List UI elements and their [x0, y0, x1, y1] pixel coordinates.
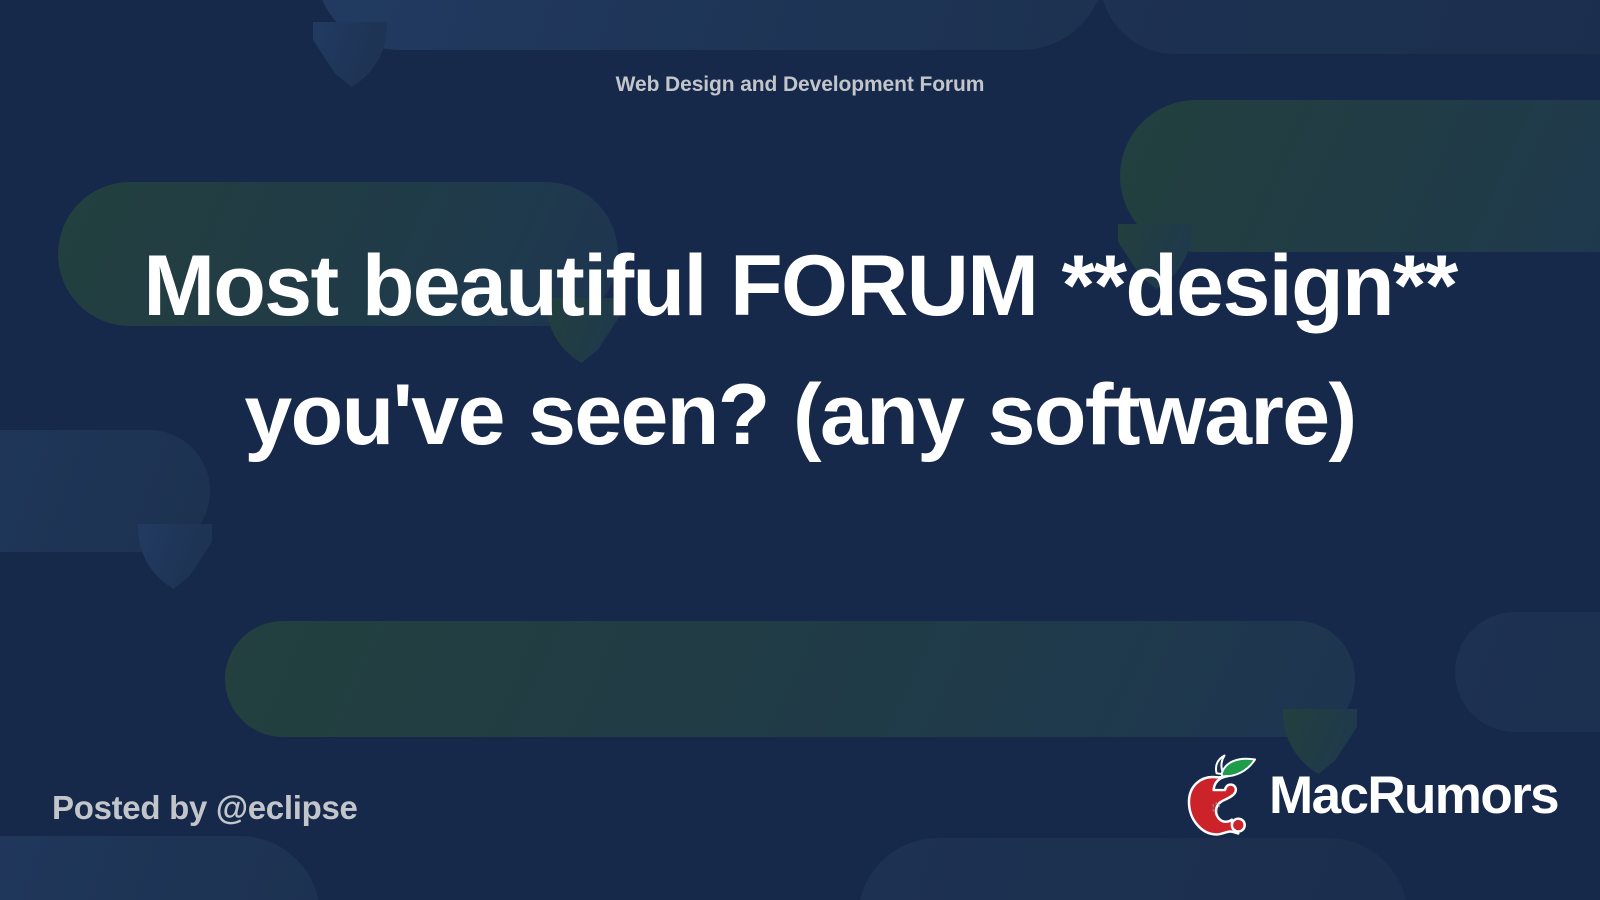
macrumors-apple-question-logo-icon: [1186, 752, 1260, 838]
macrumors-brand: MacRumors: [1186, 752, 1558, 838]
post-author-label: Posted by @eclipse: [52, 789, 358, 827]
post-title: Most beautiful FORUM **design** you've s…: [0, 222, 1600, 480]
macrumors-wordmark: MacRumors: [1269, 769, 1558, 822]
forum-share-card: Web Design and Development Forum Most be…: [0, 0, 1600, 900]
card-content: Web Design and Development Forum Most be…: [0, 0, 1600, 900]
forum-name-label: Web Design and Development Forum: [0, 73, 1600, 97]
